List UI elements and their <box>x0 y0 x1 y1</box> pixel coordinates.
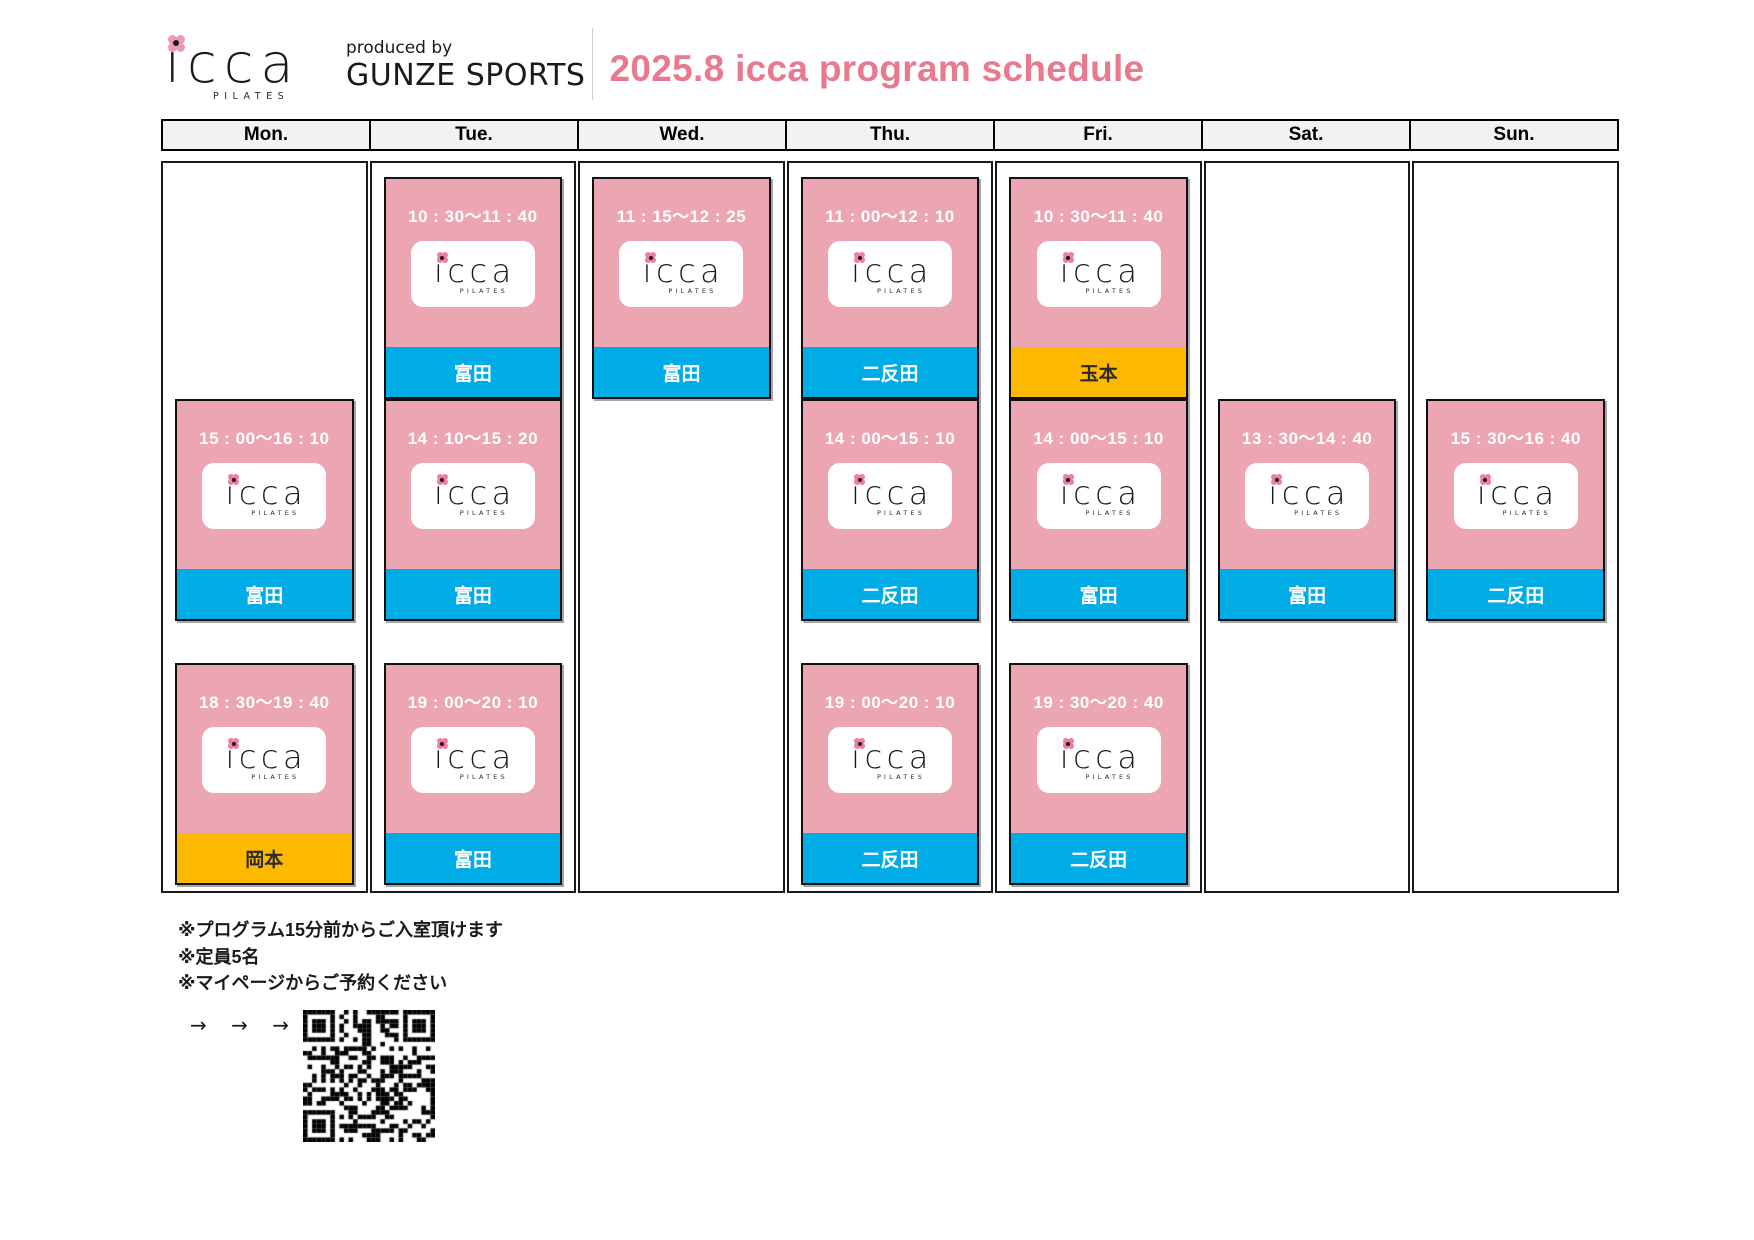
icca-tagline: PILATES <box>1064 287 1134 295</box>
icca-pilates-logo: iccaPILATES <box>411 727 535 793</box>
icca-tagline: PILATES <box>213 91 289 102</box>
note-line: ※マイページからご予約ください <box>178 970 503 997</box>
flower-icon <box>1063 252 1074 263</box>
flower-icon <box>437 474 448 485</box>
class-time: 11 : 15～12 : 25 <box>617 202 746 227</box>
flower-icon <box>645 252 656 263</box>
class-card-body: 10 : 30～11 : 40iccaPILATES <box>1011 179 1186 347</box>
class-time: 10 : 30～11 : 40 <box>408 202 537 227</box>
icca-tagline: PILATES <box>438 287 508 295</box>
class-time: 14 : 00～15 : 10 <box>1033 424 1163 449</box>
icca-tagline: PILATES <box>229 773 299 781</box>
icca-tagline: PILATES <box>855 509 925 517</box>
icca-pilates-logo: iccaPILATES <box>411 463 535 529</box>
day-header-fri: Fri. <box>995 121 1203 149</box>
class-slot: 14 : 10～15 : 20iccaPILATES富田 <box>384 399 563 621</box>
icca-pilates-logo: iccaPILATES <box>828 463 952 529</box>
instructor-name: 二反田 <box>803 833 978 883</box>
icca-tagline: PILATES <box>855 773 925 781</box>
class-time: 14 : 00～15 : 10 <box>825 424 955 449</box>
instructor-name: 富田 <box>386 833 561 883</box>
class-slot: 11 : 00～12 : 10iccaPILATES二反田 <box>801 177 980 399</box>
icca-pilates-logo: iccaPILATES <box>1037 241 1161 307</box>
class-slot: 19 : 00～20 : 10iccaPILATES二反田 <box>801 663 980 885</box>
class-slot: 14 : 00～15 : 10iccaPILATES富田 <box>1009 399 1188 621</box>
class-time: 19 : 30～20 : 40 <box>1033 688 1163 713</box>
class-card-body: 18 : 30～19 : 40iccaPILATES <box>177 665 352 833</box>
class-slot: 10 : 30～11 : 40iccaPILATES玉本 <box>1009 177 1188 399</box>
class-time: 11 : 00～12 : 10 <box>825 202 954 227</box>
class-card-body: 14 : 10～15 : 20iccaPILATES <box>386 401 561 569</box>
flower-icon <box>1063 738 1074 749</box>
class-time: 19 : 00～20 : 10 <box>825 688 955 713</box>
class-card[interactable]: 15 : 30～16 : 40iccaPILATES二反田 <box>1426 399 1605 621</box>
flower-icon <box>437 738 448 749</box>
instructor-name: 富田 <box>386 347 561 397</box>
class-time: 18 : 30～19 : 40 <box>199 688 329 713</box>
icca-pilates-logo: iccaPILATES <box>1037 727 1161 793</box>
class-card-body: 15 : 30～16 : 40iccaPILATES <box>1428 401 1603 569</box>
class-slot: 11 : 15～12 : 25iccaPILATES富田 <box>592 177 771 399</box>
class-slot: 19 : 00～20 : 10iccaPILATES富田 <box>384 663 563 885</box>
class-card-body: 14 : 00～15 : 10iccaPILATES <box>803 401 978 569</box>
icca-pilates-logo: iccaPILATES <box>828 241 952 307</box>
day-header-wed: Wed. <box>579 121 787 149</box>
icca-pilates-logo: iccaPILATES <box>1245 463 1369 529</box>
note-line: ※定員5名 <box>178 944 503 971</box>
flower-icon <box>1480 474 1491 485</box>
day-column-wed: 11 : 15～12 : 25iccaPILATES富田 <box>578 161 785 893</box>
schedule-page: icca PILATES produced by GUNZE SPORTS 20… <box>0 0 1754 1240</box>
day-column-thu: 11 : 00～12 : 10iccaPILATES二反田14 : 00～15 … <box>787 161 994 893</box>
icca-pilates-logo: iccaPILATES <box>1454 463 1578 529</box>
class-time: 15 : 30～16 : 40 <box>1451 424 1581 449</box>
instructor-name: 玉本 <box>1011 347 1186 397</box>
class-card-body: 11 : 15～12 : 25iccaPILATES <box>594 179 769 347</box>
instructor-name: 富田 <box>594 347 769 397</box>
flower-icon <box>228 474 239 485</box>
day-column-tue: 10 : 30～11 : 40iccaPILATES富田14 : 10～15 :… <box>370 161 577 893</box>
icca-pilates-logo: iccaPILATES <box>202 463 326 529</box>
flower-icon <box>437 252 448 263</box>
class-card[interactable]: 14 : 10～15 : 20iccaPILATES富田 <box>384 399 563 621</box>
instructor-name: 二反田 <box>803 347 978 397</box>
icca-tagline: PILATES <box>438 509 508 517</box>
class-slot: 18 : 30～19 : 40iccaPILATES岡本 <box>175 663 354 885</box>
instructor-name: 二反田 <box>1011 833 1186 883</box>
flower-icon <box>854 738 865 749</box>
page-header: icca PILATES produced by GUNZE SPORTS 20… <box>0 0 1754 105</box>
reservation-qr-code[interactable] <box>303 1010 435 1142</box>
class-card[interactable]: 13 : 30～14 : 40iccaPILATES富田 <box>1218 399 1397 621</box>
flower-icon <box>1271 474 1282 485</box>
class-slot: 10 : 30～11 : 40iccaPILATES富田 <box>384 177 563 399</box>
day-column-mon: 15 : 00～16 : 10iccaPILATES富田18 : 30～19 :… <box>161 161 368 893</box>
day-column-sun: 15 : 30～16 : 40iccaPILATES二反田 <box>1412 161 1619 893</box>
class-slot: 14 : 00～15 : 10iccaPILATES二反田 <box>801 399 980 621</box>
class-card-body: 19 : 30～20 : 40iccaPILATES <box>1011 665 1186 833</box>
day-header-mon: Mon. <box>163 121 371 149</box>
class-card-body: 19 : 00～20 : 10iccaPILATES <box>386 665 561 833</box>
day-header-sat: Sat. <box>1203 121 1411 149</box>
class-card-body: 19 : 00～20 : 10iccaPILATES <box>803 665 978 833</box>
class-card[interactable]: 19 : 00～20 : 10iccaPILATES富田 <box>384 663 563 885</box>
icca-tagline: PILATES <box>438 773 508 781</box>
class-card-body: 13 : 30～14 : 40iccaPILATES <box>1220 401 1395 569</box>
class-time: 13 : 30～14 : 40 <box>1242 424 1372 449</box>
class-card-body: 10 : 30～11 : 40iccaPILATES <box>386 179 561 347</box>
instructor-name: 富田 <box>1011 569 1186 619</box>
class-time: 14 : 10～15 : 20 <box>408 424 538 449</box>
day-header-thu: Thu. <box>787 121 995 149</box>
icca-tagline: PILATES <box>229 509 299 517</box>
notes-block: ※プログラム15分前からご入室頂けます※定員5名※マイページからご予約ください <box>178 917 503 997</box>
icca-tagline: PILATES <box>1481 509 1551 517</box>
flower-icon <box>854 474 865 485</box>
note-line: ※プログラム15分前からご入室頂けます <box>178 917 503 944</box>
schedule-grid: 15 : 00～16 : 10iccaPILATES富田18 : 30～19 :… <box>161 161 1619 893</box>
instructor-name: 富田 <box>386 569 561 619</box>
class-card[interactable]: 19 : 00～20 : 10iccaPILATES二反田 <box>801 663 980 885</box>
day-column-sat: 13 : 30～14 : 40iccaPILATES富田 <box>1204 161 1411 893</box>
instructor-name: 岡本 <box>177 833 352 883</box>
class-card[interactable]: 15 : 00～16 : 10iccaPILATES富田 <box>175 399 354 621</box>
icca-tagline: PILATES <box>855 287 925 295</box>
class-card[interactable]: 18 : 30～19 : 40iccaPILATES岡本 <box>175 663 354 885</box>
class-card[interactable]: 10 : 30～11 : 40iccaPILATES富田 <box>384 177 563 399</box>
class-slot: 13 : 30～14 : 40iccaPILATES富田 <box>1218 399 1397 621</box>
icca-tagline: PILATES <box>1064 773 1134 781</box>
flower-icon <box>1063 474 1074 485</box>
class-slot: 15 : 00～16 : 10iccaPILATES富田 <box>175 399 354 621</box>
icca-tagline: PILATES <box>1272 509 1342 517</box>
day-header-sun: Sun. <box>1411 121 1617 149</box>
class-time: 19 : 00～20 : 10 <box>408 688 538 713</box>
icca-tagline: PILATES <box>1064 509 1134 517</box>
class-card[interactable]: 19 : 30～20 : 40iccaPILATES二反田 <box>1009 663 1188 885</box>
icca-pilates-logo: iccaPILATES <box>411 241 535 307</box>
arrow-indicator: → → → <box>190 1013 298 1037</box>
icca-pilates-logo: iccaPILATES <box>828 727 952 793</box>
page-title: 2025.8 icca program schedule <box>0 48 1754 90</box>
class-card-body: 15 : 00～16 : 10iccaPILATES <box>177 401 352 569</box>
icca-pilates-logo: iccaPILATES <box>619 241 743 307</box>
class-card[interactable]: 11 : 15～12 : 25iccaPILATES富田 <box>592 177 771 399</box>
icca-pilates-logo: iccaPILATES <box>1037 463 1161 529</box>
class-slot: 19 : 30～20 : 40iccaPILATES二反田 <box>1009 663 1188 885</box>
class-card[interactable]: 11 : 00～12 : 10iccaPILATES二反田 <box>801 177 980 399</box>
class-card-body: 11 : 00～12 : 10iccaPILATES <box>803 179 978 347</box>
icca-tagline: PILATES <box>646 287 716 295</box>
flower-icon <box>854 252 865 263</box>
icca-pilates-logo: iccaPILATES <box>202 727 326 793</box>
flower-icon <box>228 738 239 749</box>
class-card[interactable]: 10 : 30～11 : 40iccaPILATES玉本 <box>1009 177 1188 399</box>
day-header-tue: Tue. <box>371 121 579 149</box>
instructor-name: 二反田 <box>1428 569 1603 619</box>
class-slot: 15 : 30～16 : 40iccaPILATES二反田 <box>1426 399 1605 621</box>
instructor-name: 富田 <box>177 569 352 619</box>
day-header-row: Mon.Tue.Wed.Thu.Fri.Sat.Sun. <box>161 119 1619 151</box>
class-card[interactable]: 14 : 00～15 : 10iccaPILATES富田 <box>1009 399 1188 621</box>
instructor-name: 二反田 <box>803 569 978 619</box>
class-card[interactable]: 14 : 00～15 : 10iccaPILATES二反田 <box>801 399 980 621</box>
class-time: 10 : 30～11 : 40 <box>1034 202 1163 227</box>
instructor-name: 富田 <box>1220 569 1395 619</box>
class-time: 15 : 00～16 : 10 <box>199 424 329 449</box>
day-column-fri: 10 : 30～11 : 40iccaPILATES玉本14 : 00～15 :… <box>995 161 1202 893</box>
class-card-body: 14 : 00～15 : 10iccaPILATES <box>1011 401 1186 569</box>
